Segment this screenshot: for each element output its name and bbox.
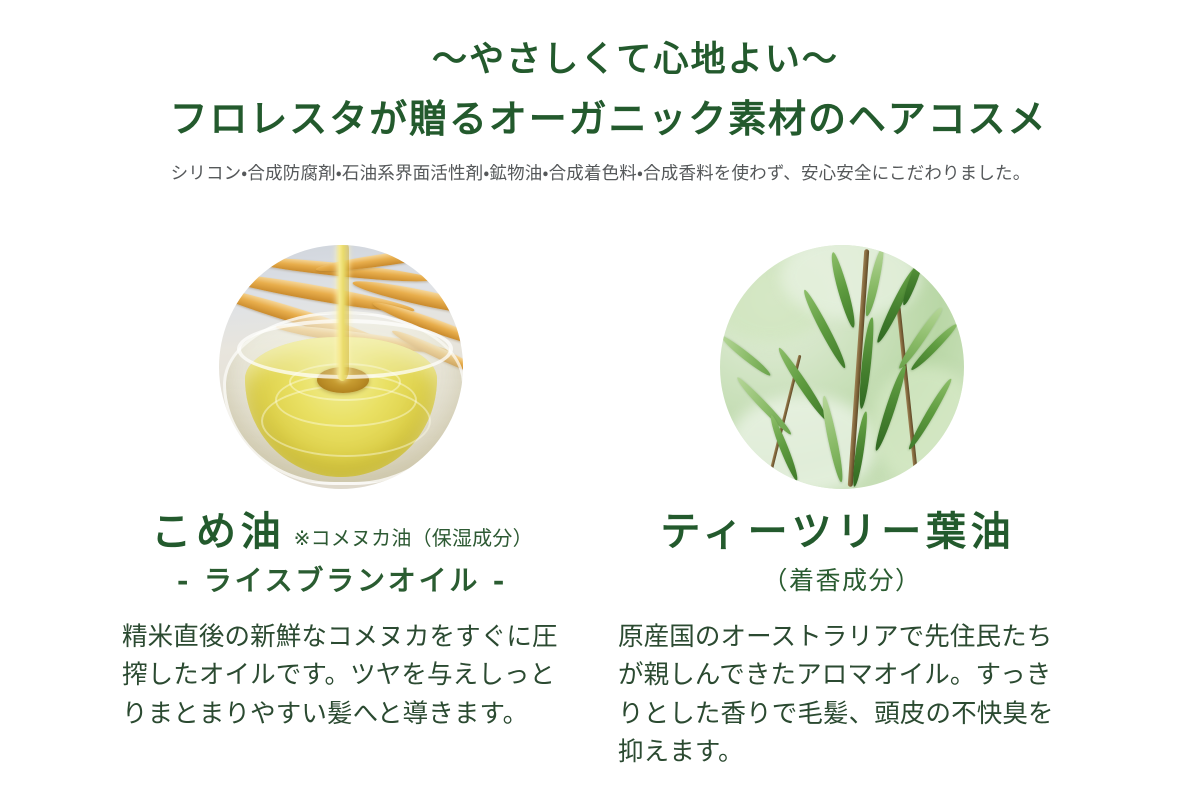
ingredient-card-rice-bran-oil — [92, 240, 592, 489]
hero-note: シリコン・合成防腐剤・石油系界面活性剤・鉱物油・合成着色料・合成香料を使わず、安… — [0, 163, 1201, 186]
ingredient-card-tea-tree-leaf-oil — [592, 240, 1092, 489]
ingredient-annotation: ※コメヌカ油（保湿成分） — [294, 526, 533, 550]
ingredient-name: こめ油 — [151, 508, 285, 555]
hero-title: フロレスタが贈るオーガニック素材のヘアコスメ — [0, 98, 1201, 140]
ingredient-subtitle-rice-bran-oil: - ライスブランオイル - — [92, 559, 592, 599]
ingredient-name: ティーツリー葉油 — [660, 508, 1015, 555]
ingredient-description-tea-tree-leaf-oil: 原産国のオーストラリアで先住民たちが親しんできたアロマオイル。すっきりとした香り… — [618, 618, 1070, 771]
ingredient-subtitle-tea-tree-leaf-oil: （着香成分） — [592, 561, 1092, 597]
tea-tree-leaf-photo — [720, 245, 964, 489]
hero-eyebrow: 〜やさしくて心地よい〜 — [0, 42, 1201, 79]
ingredient-description-rice-bran-oil: 精米直後の新鮮なコメヌカをすぐに圧搾したオイルです。ツヤを与えしっとりまとまりや… — [122, 618, 574, 733]
ingredient-heading-tea-tree-leaf-oil: ティーツリー葉油 — [592, 499, 1092, 557]
ingredient-heading-rice-bran-oil: こめ油※コメヌカ油（保湿成分） — [92, 499, 592, 557]
pouring-oil-stream — [336, 245, 349, 381]
promo-page: 〜やさしくて心地よい〜 フロレスタが贈るオーガニック素材のヘアコスメ シリコン・… — [0, 0, 1201, 801]
rice-bran-oil-photo — [219, 245, 463, 489]
